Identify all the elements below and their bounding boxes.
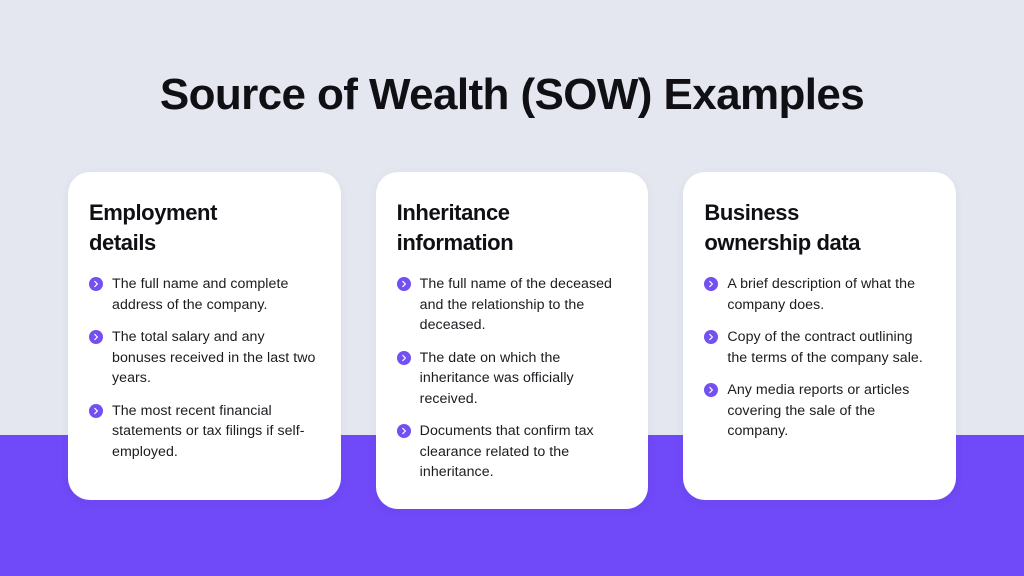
list-item: The date on which the inheritance was of… — [397, 348, 627, 410]
chevron-right-circle-icon — [89, 277, 103, 291]
list-item-text: The full name of the deceased and the re… — [420, 274, 627, 336]
chevron-right-circle-icon — [704, 330, 718, 344]
list-item-text: Any media reports or articles covering t… — [727, 380, 934, 442]
list-item-text: The date on which the inheritance was of… — [420, 348, 627, 410]
list-item: The total salary and any bonuses receive… — [89, 327, 319, 389]
list-item: The most recent financial statements or … — [89, 401, 319, 463]
list-item-text: Copy of the contract outlining the terms… — [727, 327, 934, 368]
card-inheritance-information[interactable]: Inheritance information The full name of… — [376, 172, 649, 509]
chevron-right-circle-icon — [704, 277, 718, 291]
chevron-right-circle-icon — [89, 404, 103, 418]
list-item-text: The full name and complete address of th… — [112, 274, 319, 315]
list-item-text: Documents that confirm tax clearance rel… — [420, 421, 627, 483]
cards-row: Employment details The full name and com… — [68, 172, 956, 509]
list-item: The full name and complete address of th… — [89, 274, 319, 315]
card-bullet-list: A brief description of what the company … — [704, 274, 934, 442]
card-employment-details[interactable]: Employment details The full name and com… — [68, 172, 341, 500]
page-title: Source of Wealth (SOW) Examples — [0, 66, 1024, 124]
chevron-right-circle-icon — [397, 424, 411, 438]
list-item: Copy of the contract outlining the terms… — [704, 327, 934, 368]
list-item-text: The most recent financial statements or … — [112, 401, 319, 463]
card-bullet-list: The full name of the deceased and the re… — [397, 274, 627, 483]
list-item: Any media reports or articles covering t… — [704, 380, 934, 442]
list-item: The full name of the deceased and the re… — [397, 274, 627, 336]
card-heading: Employment details — [89, 198, 319, 258]
card-heading: Inheritance information — [397, 198, 627, 258]
chevron-right-circle-icon — [397, 351, 411, 365]
card-bullet-list: The full name and complete address of th… — [89, 274, 319, 462]
chevron-right-circle-icon — [397, 277, 411, 291]
slide-canvas: Source of Wealth (SOW) Examples Employme… — [0, 0, 1024, 576]
chevron-right-circle-icon — [89, 330, 103, 344]
card-business-ownership-data[interactable]: Business ownership data A brief descript… — [683, 172, 956, 500]
list-item-text: A brief description of what the company … — [727, 274, 934, 315]
list-item: Documents that confirm tax clearance rel… — [397, 421, 627, 483]
card-heading: Business ownership data — [704, 198, 934, 258]
list-item: A brief description of what the company … — [704, 274, 934, 315]
chevron-right-circle-icon — [704, 383, 718, 397]
list-item-text: The total salary and any bonuses receive… — [112, 327, 319, 389]
